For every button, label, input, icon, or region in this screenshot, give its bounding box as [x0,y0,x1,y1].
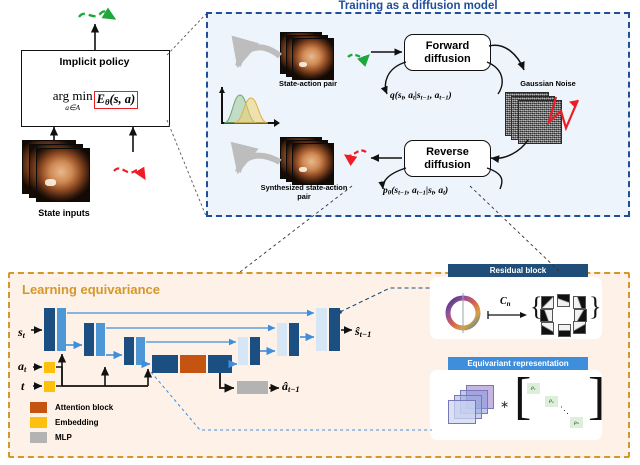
input-action-label: at [18,359,26,374]
endoscopy-frame [36,148,90,202]
reverse-diffusion-formula: pθ(st−1, at−1|st, at) [383,186,448,197]
kernel-tile [557,294,570,307]
argmin-label: arg min [53,88,93,103]
forward-diffusion-formula: q(st, at|st−1, at−1) [390,91,452,102]
training-panel-title: Training as a diffusion model [206,0,630,13]
attention-block-swatch [30,402,47,413]
energy-function-highlight: Eθ(s, a) [94,91,139,108]
cyclic-group-color-wheel [440,290,486,336]
noise-tile [518,100,562,144]
unet-encoder-block-1b [57,308,66,351]
embedding-block-action [44,362,55,373]
kernel-tile [541,296,554,309]
representation-rho-n: ρₙ [570,417,583,428]
embedding-block-time [44,381,55,392]
legend-label: MLP [55,433,72,442]
representation-rho-2: ρ₂ [545,396,558,407]
residual-block-card-title: Residual block [448,264,588,277]
legend-label: Attention block [55,403,113,412]
unet-bottleneck-block-left [152,355,178,373]
output-state-label: ŝt−1 [355,324,371,339]
unet-decoder-block-3b [250,337,260,365]
energy-args: (s, a) [110,92,136,106]
unet-decoder-block-2a [277,323,287,356]
convolution-operator: ∗ [500,398,509,411]
feature-map [448,400,476,424]
kernel-tile [573,296,586,309]
forward-diffusion-box: Forward diffusion [404,34,491,71]
unet-bottleneck-block-right [208,355,232,373]
equivariance-panel-title: Learning equivariance [22,282,160,297]
unet-decoder-block-1a [316,308,327,351]
matrix-bracket-close: ] [588,376,605,419]
unet-encoder-block-2b [96,323,105,356]
input-state-label: st [18,325,25,340]
attention-block [180,355,206,373]
state-input-image-stack [22,140,94,202]
endoscopy-frame [292,143,334,185]
mlp-block [237,381,268,394]
input-time-label: t [21,379,24,394]
kernel-tile [541,322,554,335]
unet-decoder-block-1b [329,308,340,351]
gaussian-noise-caption: Gaussian Noise [503,80,593,89]
synthesized-pair-caption: Synthesized state-action pair [258,184,350,201]
unet-decoder-block-2b [289,323,299,356]
gaussian-noise-stack [505,92,573,146]
synthesized-pair-image-stack [280,137,342,189]
energy-symbol: E [97,92,105,106]
matrix-ellipsis: ⋱ [560,405,569,416]
unet-decoder-block-3a [238,337,248,365]
kernel-tile [573,321,586,334]
unet-encoder-block-1a [44,308,55,351]
legend-item: Embedding [30,415,113,430]
mlp-block-swatch [30,432,47,443]
implicit-policy-equation: arg min a∈A Eθ(s, a) [28,85,163,115]
implicit-policy-title: Implicit policy [21,56,168,68]
argmin-operator: arg min a∈A [53,88,93,112]
argmin-subscript: a∈A [53,104,93,112]
rotated-kernel-set [541,296,587,332]
block-legend: Attention block Embedding MLP [30,400,113,445]
unet-encoder-block-3b [136,337,145,365]
embedding-block-swatch [30,417,47,428]
state-action-pair-image-stack [280,32,342,84]
kernel-tile [558,324,571,337]
legend-item: Attention block [30,400,113,415]
endoscopy-frame [292,38,334,80]
output-action-label: ât−1 [282,379,300,394]
kernel-tile [540,309,553,322]
feature-map-stack [448,385,494,425]
representation-rho-1: ρ₁ [527,383,540,394]
unet-encoder-block-2a [84,323,94,356]
state-action-pair-caption: State-action pair [272,80,344,89]
reverse-diffusion-box: Reverse diffusion [404,140,491,177]
map-to-arrow [486,308,528,322]
set-brace-close: } [589,292,601,322]
cyclic-group-operator: Cn [500,296,511,308]
state-inputs-caption: State inputs [14,208,114,219]
distribution-plot [216,85,282,132]
unet-encoder-block-3a [124,337,134,365]
legend-item: MLP [30,430,113,445]
legend-label: Embedding [55,418,99,427]
